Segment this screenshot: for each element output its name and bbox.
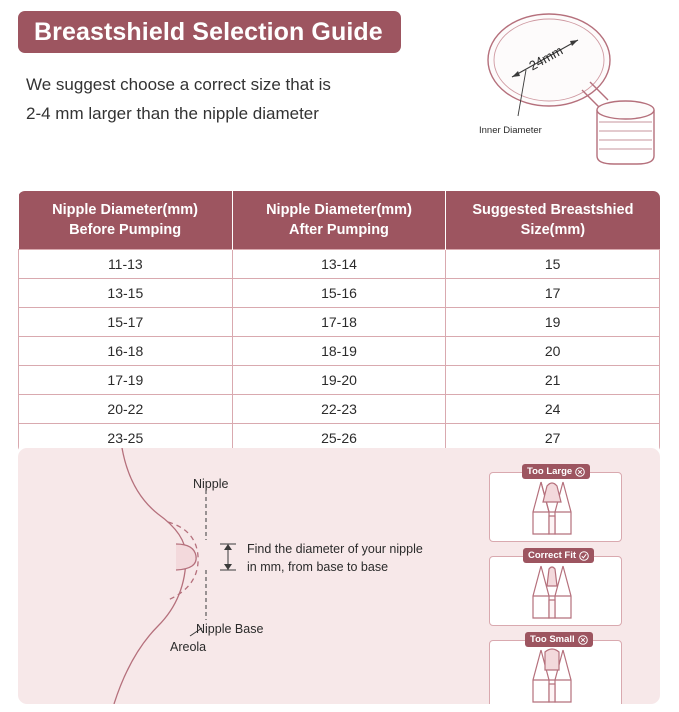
table-cell: 11-13 [19, 250, 233, 279]
shield-illustration-too-small [489, 640, 622, 704]
table-row: 17-19 19-20 21 [19, 366, 660, 395]
instruction-line-1: Find the diameter of your nipple [247, 540, 452, 558]
fit-badge-correct-fit: Correct Fit [523, 548, 594, 563]
label-nipple: Nipple [193, 477, 228, 491]
table-cell: 15-16 [232, 279, 446, 308]
measurement-diagram-panel: Nipple Nipple Base Areola Find the diame… [18, 448, 660, 704]
page-title: Breastshield Selection Guide [34, 18, 383, 47]
table-cell: 17-18 [232, 308, 446, 337]
table-header-line: Suggested Breastshied [450, 200, 655, 220]
table-header-line: Before Pumping [23, 220, 228, 240]
check-circle-icon [579, 551, 589, 561]
nipple-shape [176, 544, 196, 570]
shield-illustration-too-large [489, 472, 622, 547]
table-cell: 20 [446, 337, 660, 366]
page-title-banner: Breastshield Selection Guide [18, 11, 401, 53]
label-nipple-base: Nipple Base [196, 622, 263, 636]
table-cell: 17 [446, 279, 660, 308]
shield-illustration-correct-fit [489, 556, 622, 631]
table-cell: 17-19 [19, 366, 233, 395]
table-cell: 13-14 [232, 250, 446, 279]
cross-circle-icon [575, 467, 585, 477]
fit-badge-label: Correct Fit [528, 550, 576, 561]
inner-diameter-label: Inner Diameter [479, 125, 542, 136]
table-cell: 13-15 [19, 279, 233, 308]
table-cell: 22-23 [232, 395, 446, 424]
table-cell: 16-18 [19, 337, 233, 366]
table-cell: 15-17 [19, 308, 233, 337]
product-illustration: 24mm Inner Diameter [466, 4, 671, 174]
instruction-line-2: in mm, from base to base [247, 558, 452, 576]
table-row: 20-22 22-23 24 [19, 395, 660, 424]
fit-badge-too-large: Too Large [522, 464, 590, 479]
table-cell: 20-22 [19, 395, 233, 424]
subtitle-line-1: We suggest choose a correct size that is [26, 70, 446, 99]
table-row: 13-15 15-16 17 [19, 279, 660, 308]
table-header-line: Nipple Diameter(mm) [237, 200, 442, 220]
table-header-cell-0: Nipple Diameter(mm) Before Pumping [19, 191, 233, 250]
label-areola: Areola [170, 640, 206, 654]
table-row: 16-18 18-19 20 [19, 337, 660, 366]
subtitle-block: We suggest choose a correct size that is… [26, 70, 446, 128]
table-header-line: Size(mm) [450, 220, 655, 240]
fit-badge-label: Too Large [527, 466, 572, 477]
table-cell: 19 [446, 308, 660, 337]
table-row: 15-17 17-18 19 [19, 308, 660, 337]
table-header-row: Nipple Diameter(mm) Before Pumping Nippl… [19, 191, 660, 250]
table-header-cell-2: Suggested Breastshied Size(mm) [446, 191, 660, 250]
table-header-cell-1: Nipple Diameter(mm) After Pumping [232, 191, 446, 250]
table-cell: 19-20 [232, 366, 446, 395]
fit-badge-label: Too Small [530, 634, 575, 645]
table-row: 11-13 13-14 15 [19, 250, 660, 279]
table-header-line: After Pumping [237, 220, 442, 240]
fit-badge-too-small: Too Small [525, 632, 593, 647]
cross-circle-icon [578, 635, 588, 645]
nipple-measurement-illustration [18, 448, 473, 704]
breast-contour [114, 448, 186, 704]
table-cell: 24 [446, 395, 660, 424]
table-cell: 15 [446, 250, 660, 279]
table-header-line: Nipple Diameter(mm) [23, 200, 228, 220]
table-cell: 18-19 [232, 337, 446, 366]
subtitle-line-2: 2-4 mm larger than the nipple diameter [26, 99, 446, 128]
size-recommendation-table: Nipple Diameter(mm) Before Pumping Nippl… [18, 191, 660, 453]
table-cell: 21 [446, 366, 660, 395]
measurement-instruction: Find the diameter of your nipple in mm, … [247, 540, 452, 576]
